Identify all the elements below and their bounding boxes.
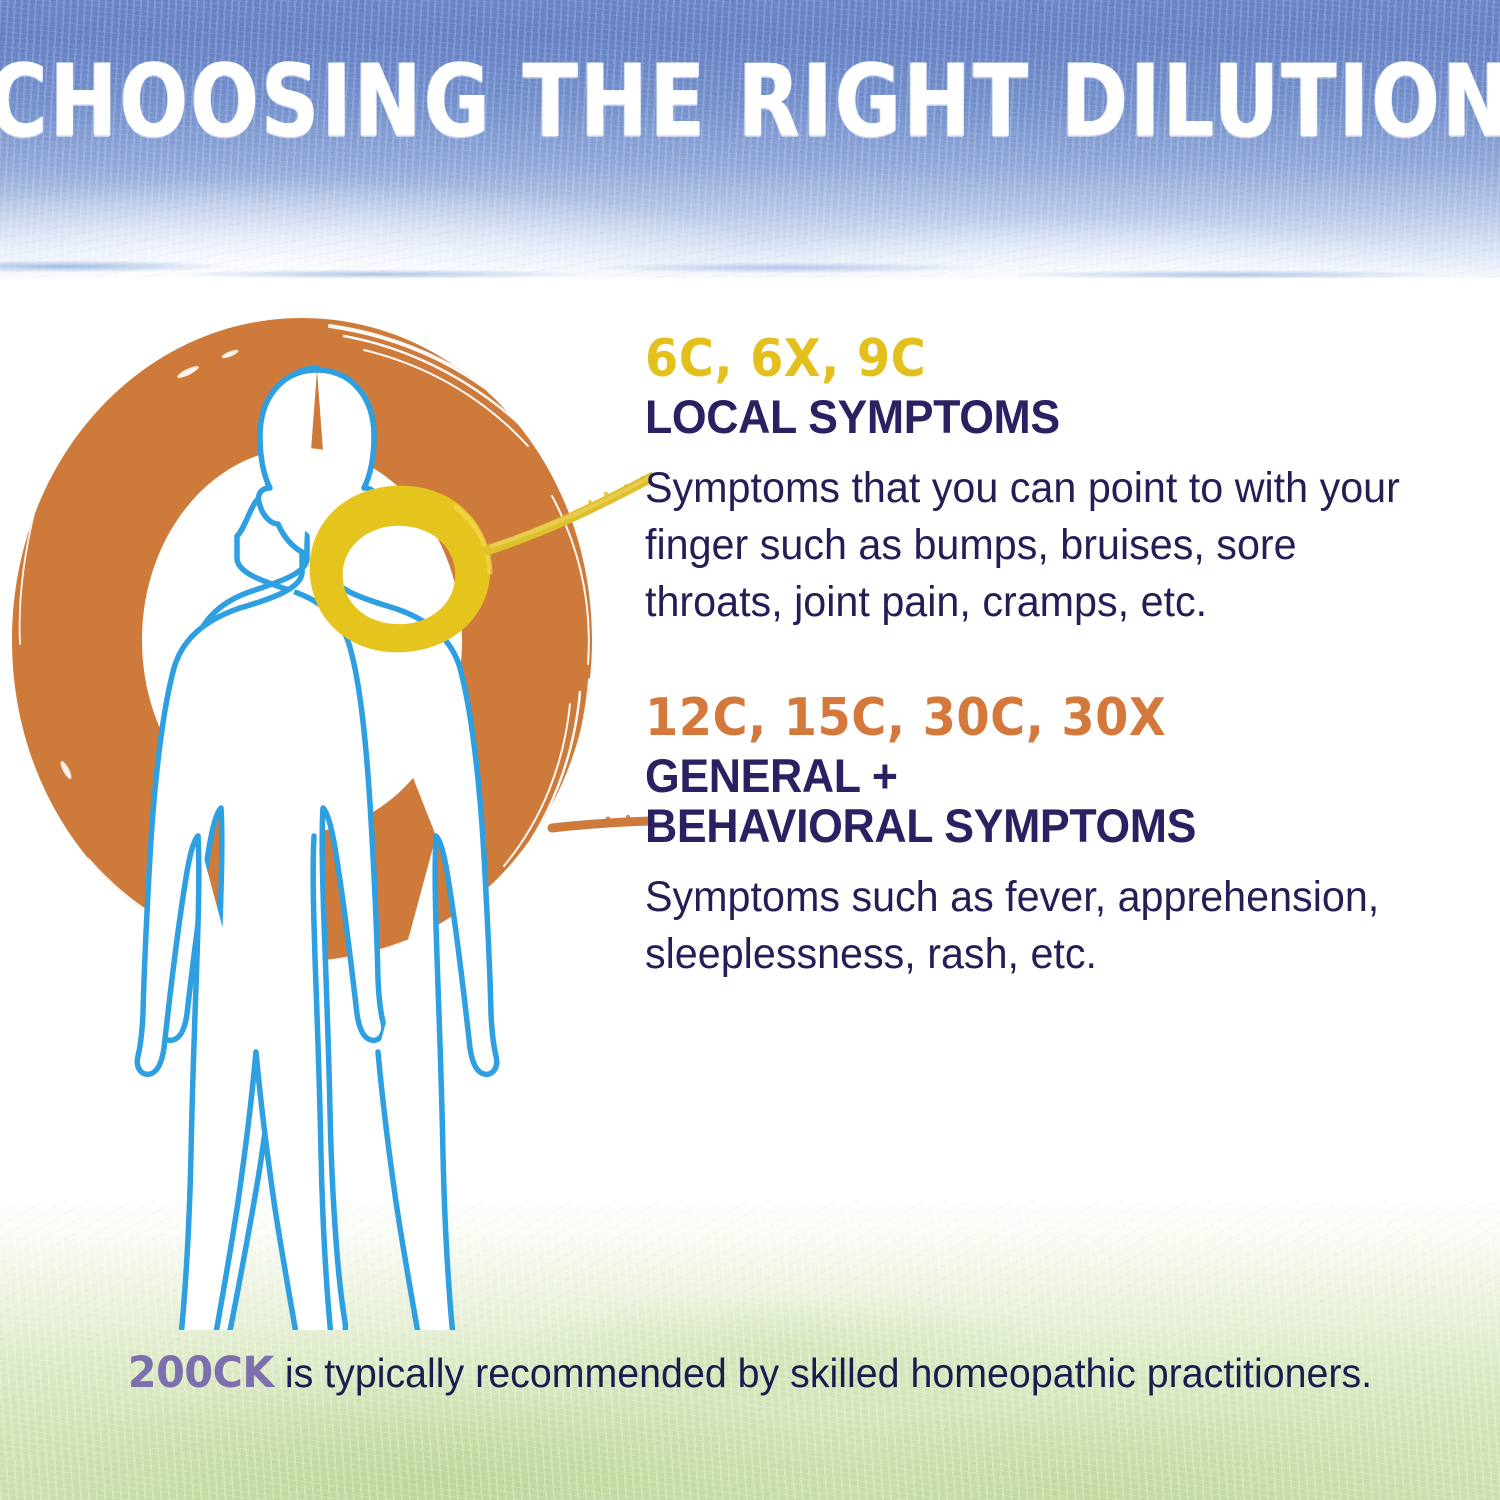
- body-diagram-illustration: [0, 300, 652, 1330]
- footer-note: 200CK is typically recommended by skille…: [30, 1348, 1470, 1400]
- symptom-block-local: 6C, 6X, 9C LOCAL SYMPTOMS Symptoms that …: [645, 332, 1445, 631]
- symptom-heading-general-line1: GENERAL +: [645, 751, 1405, 801]
- symptom-heading-local: LOCAL SYMPTOMS: [645, 392, 1405, 442]
- infographic-root: CHOOSING THE RIGHT DILUTION: [0, 0, 1500, 1500]
- page-title: CHOOSING THE RIGHT DILUTION: [0, 0, 1500, 278]
- symptom-block-general: 12C, 15C, 30C, 30X GENERAL + BEHAVIORAL …: [645, 691, 1445, 983]
- dilution-code-local: 6C, 6X, 9C: [645, 332, 1381, 386]
- symptom-body-general: Symptoms such as fever, apprehension, sl…: [645, 869, 1403, 983]
- orange-leader-line: [552, 815, 650, 828]
- symptom-body-local: Symptoms that you can point to with your…: [645, 460, 1403, 631]
- footer-note-text: is typically recommended by skilled home…: [274, 1350, 1372, 1396]
- yellow-highlight-ring: [310, 486, 491, 653]
- page-title-text: CHOOSING THE RIGHT DILUTION: [0, 44, 1500, 160]
- symptom-blocks: 6C, 6X, 9C LOCAL SYMPTOMS Symptoms that …: [645, 332, 1445, 983]
- dilution-code-general: 12C, 15C, 30C, 30X: [645, 691, 1381, 745]
- footer-dilution-code: 200CK: [128, 1348, 274, 1398]
- symptom-heading-general-line2: BEHAVIORAL SYMPTOMS: [645, 801, 1405, 851]
